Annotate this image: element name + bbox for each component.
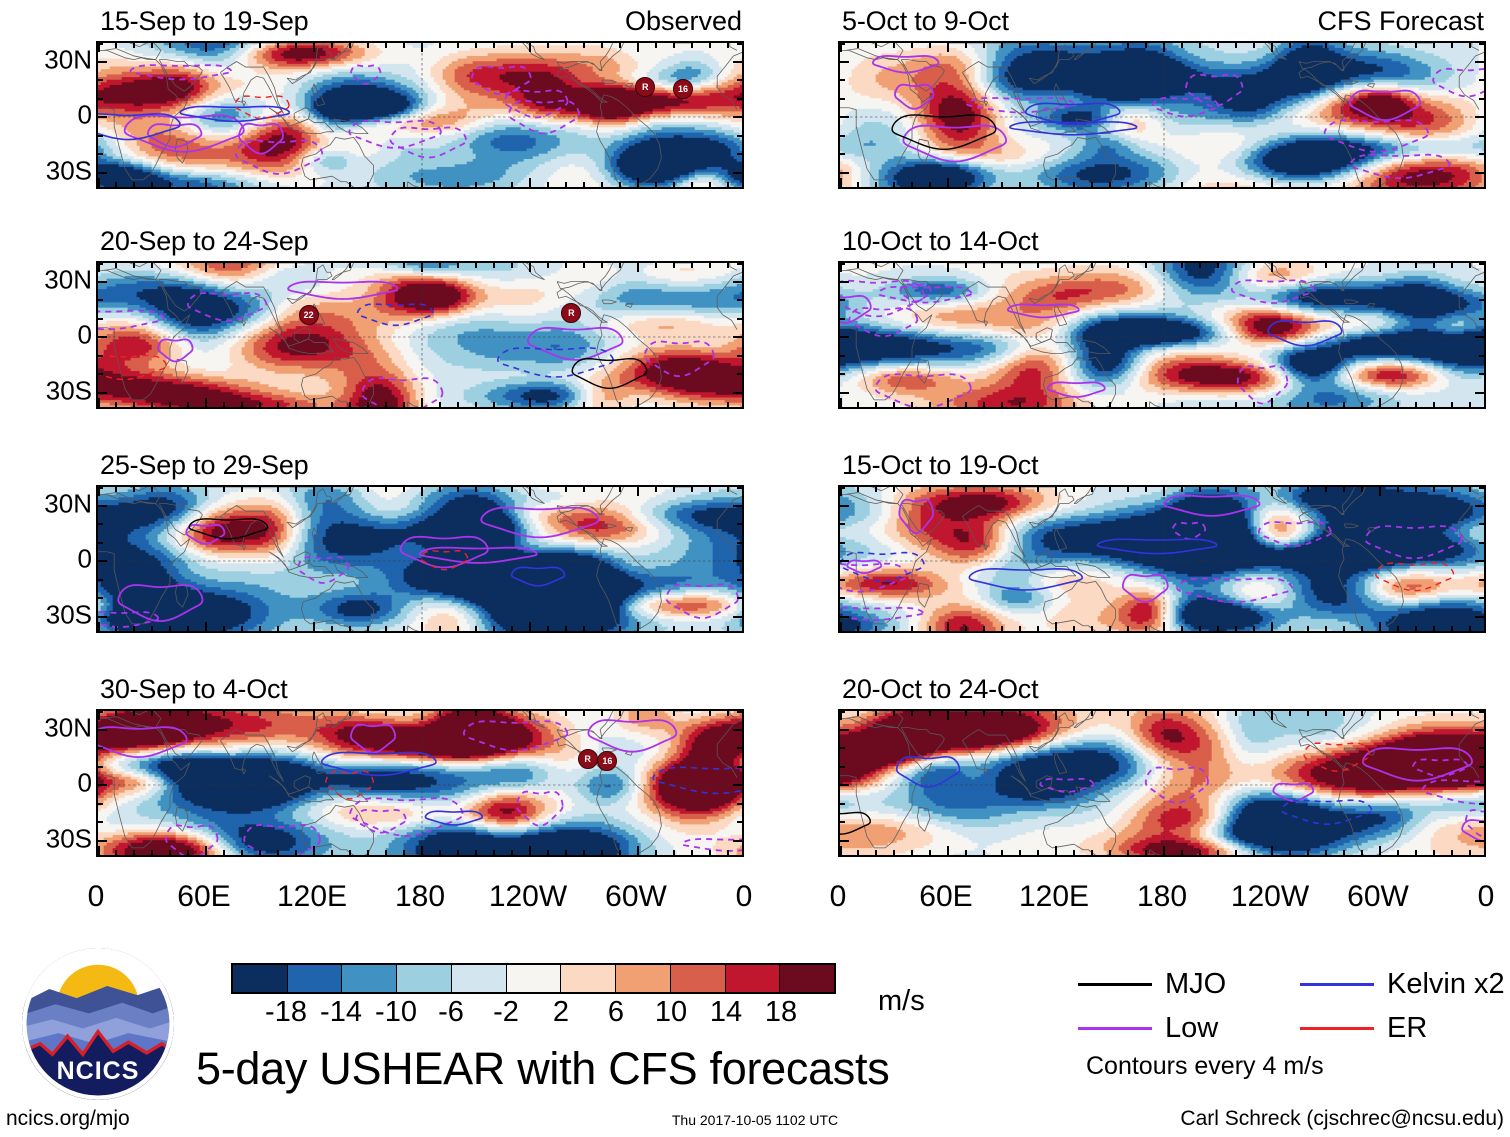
axis-tick-x — [1217, 626, 1219, 631]
axis-tick-x — [439, 626, 441, 631]
axis-tick-x — [331, 487, 333, 492]
legend-item-low: Low — [1078, 1012, 1218, 1045]
axis-tick-y — [1475, 616, 1484, 618]
axis-tick-x — [277, 263, 279, 268]
axis-tick-y — [737, 263, 742, 265]
axis-tick-y — [840, 116, 849, 118]
axis-tick-x — [1253, 850, 1255, 855]
axis-tick-y — [1479, 43, 1484, 45]
axis-tick-x — [691, 43, 693, 48]
axis-tick-x — [205, 622, 207, 631]
axis-tick-x — [259, 402, 261, 407]
axis-tick-x — [1073, 402, 1075, 407]
axis-tick-x — [1073, 626, 1075, 631]
axis-tick-x — [277, 43, 279, 48]
axis-tick-x — [1181, 43, 1183, 48]
axis-tick-y — [1475, 505, 1484, 507]
axis-tick-x — [727, 711, 729, 716]
axis-tick-x — [1109, 182, 1111, 187]
axis-tick-x — [133, 43, 135, 48]
axis-tick-x — [965, 43, 967, 48]
axis-tick-x — [349, 263, 351, 268]
axis-tick-y — [733, 172, 742, 174]
axis-tick-x — [619, 263, 621, 268]
axis-tick-x — [1361, 402, 1363, 407]
axis-tick-x — [1271, 263, 1273, 272]
axis-tick-y — [840, 373, 845, 375]
axis-tick-y — [1479, 98, 1484, 100]
axis-tick-x — [151, 182, 153, 187]
axis-tick-x — [1361, 850, 1363, 855]
axis-tick-x — [947, 263, 949, 272]
axis-tick-x — [1055, 846, 1057, 855]
axis-tick-x — [331, 263, 333, 268]
axis-tick-x — [1001, 711, 1003, 716]
axis-tick-x — [983, 182, 985, 187]
axis-tick-x — [241, 626, 243, 631]
axis-tick-x — [169, 626, 171, 631]
axis-tick-x — [1325, 263, 1327, 268]
axis-tick-x — [223, 263, 225, 268]
ncics-logo: NCICS — [22, 948, 174, 1100]
panel-column-header: CFS Forecast — [1317, 6, 1484, 37]
axis-tick-x — [1163, 622, 1165, 631]
axis-tick-x — [1253, 402, 1255, 407]
axis-tick-x — [1469, 626, 1471, 631]
axis-tick-x — [1181, 487, 1183, 492]
axis-tick-x — [965, 182, 967, 187]
axis-tick-x — [187, 182, 189, 187]
axis-tick-x — [1397, 402, 1399, 407]
map-plot-area — [838, 709, 1486, 857]
legend-line-swatch — [1078, 1027, 1152, 1030]
axis-tick-x — [1019, 43, 1021, 48]
axis-tick-y — [98, 505, 107, 507]
axis-tick-x — [349, 402, 351, 407]
axis-tick-y — [840, 560, 849, 562]
axis-tick-x — [349, 43, 351, 48]
axis-tick-y — [840, 172, 849, 174]
axis-tick-x — [205, 846, 207, 855]
axis-tick-x — [1073, 263, 1075, 268]
axis-tick-x — [1217, 182, 1219, 187]
axis-tick-x — [547, 402, 549, 407]
axis-tick-x — [1289, 850, 1291, 855]
axis-tick-x — [1145, 850, 1147, 855]
axis-tick-x — [115, 402, 117, 407]
axis-tick-x — [1289, 402, 1291, 407]
x-axis-tick-label: 60E — [177, 880, 230, 914]
axis-tick-x — [457, 43, 459, 48]
axis-tick-x — [529, 398, 531, 407]
y-axis-labels: 30N030S — [4, 261, 92, 409]
axis-tick-x — [1397, 182, 1399, 187]
panel-column-header: Observed — [625, 6, 742, 37]
axis-tick-x — [655, 43, 657, 48]
axis-tick-y — [98, 153, 103, 155]
axis-tick-y — [733, 560, 742, 562]
axis-tick-x — [169, 487, 171, 492]
axis-tick-x — [1451, 43, 1453, 48]
axis-tick-x — [511, 43, 513, 48]
axis-tick-x — [1451, 182, 1453, 187]
axis-tick-y — [1479, 579, 1484, 581]
axis-tick-x — [1073, 850, 1075, 855]
axis-tick-x — [151, 263, 153, 268]
axis-tick-x — [840, 398, 842, 407]
axis-tick-x — [277, 626, 279, 631]
axis-tick-x — [893, 711, 895, 716]
axis-tick-x — [1181, 263, 1183, 268]
axis-tick-x — [367, 711, 369, 716]
axis-tick-x — [403, 263, 405, 268]
x-axis-tick-label: 120W — [1231, 880, 1309, 914]
axis-tick-x — [947, 487, 949, 496]
axis-tick-x — [1019, 850, 1021, 855]
panel-title: 15-Sep to 19-Sep — [100, 6, 308, 37]
colorbar-swatch — [342, 965, 397, 992]
axis-tick-y — [98, 523, 103, 525]
axis-tick-x — [619, 487, 621, 492]
axis-tick-x — [1433, 626, 1435, 631]
axis-tick-x — [1307, 263, 1309, 268]
axis-tick-x — [367, 487, 369, 492]
axis-tick-x — [241, 43, 243, 48]
axis-tick-x — [1145, 487, 1147, 492]
axis-tick-x — [637, 43, 639, 52]
axis-tick-x — [1127, 487, 1129, 492]
axis-tick-x — [367, 402, 369, 407]
axis-tick-x — [893, 850, 895, 855]
axis-tick-y — [733, 505, 742, 507]
axis-tick-x — [241, 402, 243, 407]
axis-tick-y — [733, 61, 742, 63]
axis-tick-x — [655, 487, 657, 492]
axis-tick-x — [493, 263, 495, 268]
axis-tick-x — [277, 487, 279, 492]
axis-tick-x — [1091, 711, 1093, 716]
footer-website[interactable]: ncics.org/mjo — [6, 1107, 130, 1131]
axis-tick-x — [1091, 263, 1093, 268]
y-axis-tick-label: 0 — [78, 768, 92, 799]
axis-tick-x — [893, 487, 895, 492]
axis-tick-x — [875, 182, 877, 187]
axis-tick-y — [840, 281, 849, 283]
axis-tick-x — [421, 622, 423, 631]
axis-tick-x — [385, 850, 387, 855]
axis-tick-x — [313, 711, 315, 720]
axis-tick-y — [840, 711, 845, 713]
panel-title: 20-Sep to 24-Sep — [100, 226, 308, 257]
y-axis-tick-label: 30S — [46, 599, 92, 630]
axis-tick-y — [98, 373, 103, 375]
axis-tick-x — [1415, 182, 1417, 187]
axis-tick-x — [1127, 263, 1129, 268]
axis-tick-x — [637, 178, 639, 187]
axis-tick-x — [1037, 626, 1039, 631]
axis-tick-x — [1091, 487, 1093, 492]
axis-tick-x — [727, 626, 729, 631]
axis-tick-y — [1479, 597, 1484, 599]
axis-tick-x — [1451, 711, 1453, 716]
axis-tick-x — [403, 850, 405, 855]
axis-tick-y — [98, 616, 107, 618]
axis-tick-x — [511, 402, 513, 407]
axis-tick-x — [1361, 487, 1363, 492]
axis-tick-x — [133, 182, 135, 187]
axis-tick-x — [709, 182, 711, 187]
axis-tick-x — [223, 43, 225, 48]
axis-tick-x — [655, 850, 657, 855]
axis-tick-x — [205, 398, 207, 407]
axis-tick-x — [1253, 182, 1255, 187]
axis-tick-x — [115, 850, 117, 855]
axis-tick-y — [840, 542, 845, 544]
axis-tick-x — [583, 402, 585, 407]
axis-tick-x — [511, 263, 513, 268]
axis-tick-x — [403, 711, 405, 716]
axis-tick-y — [98, 821, 103, 823]
axis-tick-x — [637, 398, 639, 407]
axis-tick-y — [737, 597, 742, 599]
axis-tick-x — [277, 402, 279, 407]
panel-title: 10-Oct to 14-Oct — [842, 226, 1038, 257]
axis-tick-x — [1163, 263, 1165, 272]
axis-tick-x — [1235, 626, 1237, 631]
axis-tick-x — [1343, 626, 1345, 631]
axis-tick-x — [965, 850, 967, 855]
axis-tick-x — [1451, 850, 1453, 855]
axis-tick-x — [709, 43, 711, 48]
x-axis-tick-label: 180 — [1137, 880, 1187, 914]
contour-legend: MJOKelvin x2LowER — [1078, 968, 1498, 1048]
axis-tick-x — [840, 622, 842, 631]
axis-tick-x — [1163, 846, 1165, 855]
axis-tick-x — [947, 622, 949, 631]
axis-tick-x — [547, 43, 549, 48]
axis-tick-x — [1343, 487, 1345, 492]
axis-tick-y — [1479, 523, 1484, 525]
axis-tick-x — [583, 182, 585, 187]
axis-tick-x — [911, 182, 913, 187]
axis-tick-x — [421, 846, 423, 855]
axis-tick-y — [737, 766, 742, 768]
axis-tick-x — [1037, 263, 1039, 268]
axis-tick-y — [733, 840, 742, 842]
axis-tick-x — [475, 850, 477, 855]
axis-tick-x — [385, 626, 387, 631]
colorbar-tick-labels: -18-14-10-6-226101418 — [231, 996, 836, 1032]
axis-tick-y — [1479, 318, 1484, 320]
axis-tick-x — [1037, 487, 1039, 492]
axis-tick-x — [1451, 626, 1453, 631]
axis-tick-x — [1397, 626, 1399, 631]
axis-tick-x — [1469, 850, 1471, 855]
axis-tick-y — [1475, 61, 1484, 63]
axis-tick-x — [965, 487, 967, 492]
axis-tick-x — [1379, 487, 1381, 496]
axis-tick-x — [115, 182, 117, 187]
axis-tick-x — [947, 711, 949, 720]
axis-tick-x — [1091, 182, 1093, 187]
axis-tick-x — [1469, 43, 1471, 48]
axis-tick-x — [691, 711, 693, 716]
axis-tick-x — [1379, 846, 1381, 855]
axis-tick-x — [893, 263, 895, 268]
axis-tick-x — [1001, 850, 1003, 855]
axis-tick-x — [1199, 626, 1201, 631]
y-axis-tick-label: 30N — [44, 488, 92, 519]
axis-tick-x — [1055, 43, 1057, 52]
axis-tick-x — [1055, 263, 1057, 272]
axis-tick-x — [857, 263, 859, 268]
axis-tick-y — [840, 318, 845, 320]
axis-tick-x — [1145, 182, 1147, 187]
axis-tick-x — [457, 711, 459, 716]
axis-tick-x — [947, 43, 949, 52]
axis-tick-x — [1469, 182, 1471, 187]
axis-tick-y — [1479, 711, 1484, 713]
axis-tick-x — [1055, 398, 1057, 407]
axis-tick-x — [295, 850, 297, 855]
axis-tick-x — [421, 43, 423, 52]
axis-tick-x — [655, 711, 657, 716]
axis-tick-x — [1307, 487, 1309, 492]
axis-tick-x — [983, 711, 985, 716]
axis-tick-x — [565, 402, 567, 407]
axis-tick-x — [983, 626, 985, 631]
axis-tick-y — [840, 263, 845, 265]
legend-item-kelvin-x2: Kelvin x2 — [1300, 968, 1505, 1001]
axis-tick-x — [241, 850, 243, 855]
axis-tick-x — [857, 43, 859, 48]
axis-tick-y — [737, 318, 742, 320]
axis-tick-y — [840, 61, 849, 63]
axis-tick-x — [1289, 263, 1291, 268]
axis-tick-x — [259, 487, 261, 492]
axis-tick-x — [493, 402, 495, 407]
axis-tick-x — [1415, 850, 1417, 855]
axis-tick-x — [1145, 43, 1147, 48]
axis-tick-x — [187, 402, 189, 407]
colorbar-swatch — [780, 965, 834, 992]
axis-tick-x — [965, 711, 967, 716]
axis-tick-x — [313, 263, 315, 272]
axis-tick-x — [1091, 402, 1093, 407]
axis-tick-x — [1397, 850, 1399, 855]
axis-tick-y — [840, 487, 845, 489]
axis-tick-x — [205, 487, 207, 496]
axis-tick-y — [98, 729, 107, 731]
axis-tick-x — [421, 487, 423, 496]
axis-tick-x — [331, 43, 333, 48]
axis-tick-x — [475, 626, 477, 631]
axis-tick-x — [439, 402, 441, 407]
axis-tick-x — [421, 263, 423, 272]
axis-tick-x — [691, 182, 693, 187]
axis-tick-x — [1109, 402, 1111, 407]
y-axis-tick-label: 30N — [44, 712, 92, 743]
axis-tick-y — [840, 299, 845, 301]
axis-tick-x — [349, 487, 351, 492]
axis-tick-x — [601, 487, 603, 492]
colorbar-swatch — [233, 965, 288, 992]
colorbar-swatch — [452, 965, 507, 992]
colorbar-tick-label: 14 — [710, 996, 742, 1029]
storm-marker: R — [578, 749, 598, 769]
axis-tick-x — [1235, 43, 1237, 48]
contour-interval-note: Contours every 4 m/s — [1086, 1052, 1324, 1081]
axis-tick-x — [1433, 263, 1435, 268]
axis-tick-x — [241, 263, 243, 268]
axis-tick-x — [1271, 43, 1273, 52]
shaded-anomaly-field — [98, 487, 744, 633]
axis-tick-x — [403, 626, 405, 631]
axis-tick-x — [295, 487, 297, 492]
axis-tick-x — [911, 711, 913, 716]
axis-tick-x — [857, 711, 859, 716]
axis-tick-y — [98, 766, 103, 768]
axis-tick-x — [893, 626, 895, 631]
axis-tick-x — [151, 850, 153, 855]
axis-tick-x — [601, 43, 603, 48]
axis-tick-x — [1037, 850, 1039, 855]
axis-tick-x — [1433, 711, 1435, 716]
axis-tick-x — [673, 626, 675, 631]
colorbar-tick-label: -6 — [438, 996, 464, 1029]
axis-tick-x — [115, 626, 117, 631]
axis-tick-x — [929, 43, 931, 48]
axis-tick-x — [673, 182, 675, 187]
axis-tick-y — [733, 116, 742, 118]
axis-tick-x — [1181, 182, 1183, 187]
axis-tick-y — [840, 505, 849, 507]
axis-tick-x — [349, 850, 351, 855]
axis-tick-x — [133, 850, 135, 855]
colorbar-unit-label: m/s — [878, 985, 925, 1018]
axis-tick-x — [151, 626, 153, 631]
axis-tick-x — [565, 43, 567, 48]
legend-item-er: ER — [1300, 1012, 1427, 1045]
axis-tick-x — [223, 487, 225, 492]
shaded-anomaly-field — [98, 43, 744, 189]
axis-tick-x — [840, 178, 842, 187]
map-plot-area: 22R — [96, 261, 744, 409]
axis-tick-x — [875, 487, 877, 492]
axis-tick-x — [115, 711, 117, 716]
axis-tick-y — [1479, 766, 1484, 768]
axis-tick-x — [1055, 487, 1057, 496]
axis-tick-x — [840, 846, 842, 855]
axis-tick-y — [98, 263, 103, 265]
axis-tick-x — [601, 711, 603, 716]
y-axis-tick-label: 30S — [46, 375, 92, 406]
axis-tick-x — [1127, 43, 1129, 48]
axis-tick-y — [733, 729, 742, 731]
axis-tick-x — [1145, 402, 1147, 407]
axis-tick-x — [1469, 402, 1471, 407]
axis-tick-x — [151, 402, 153, 407]
axis-tick-x — [1325, 402, 1327, 407]
axis-tick-y — [1475, 281, 1484, 283]
axis-tick-x — [241, 182, 243, 187]
axis-tick-y — [737, 523, 742, 525]
axis-tick-x — [385, 487, 387, 492]
axis-tick-x — [1415, 711, 1417, 716]
axis-tick-x — [98, 846, 100, 855]
colorbar-swatch — [616, 965, 671, 992]
x-axis-tick-label: 120E — [277, 880, 347, 914]
